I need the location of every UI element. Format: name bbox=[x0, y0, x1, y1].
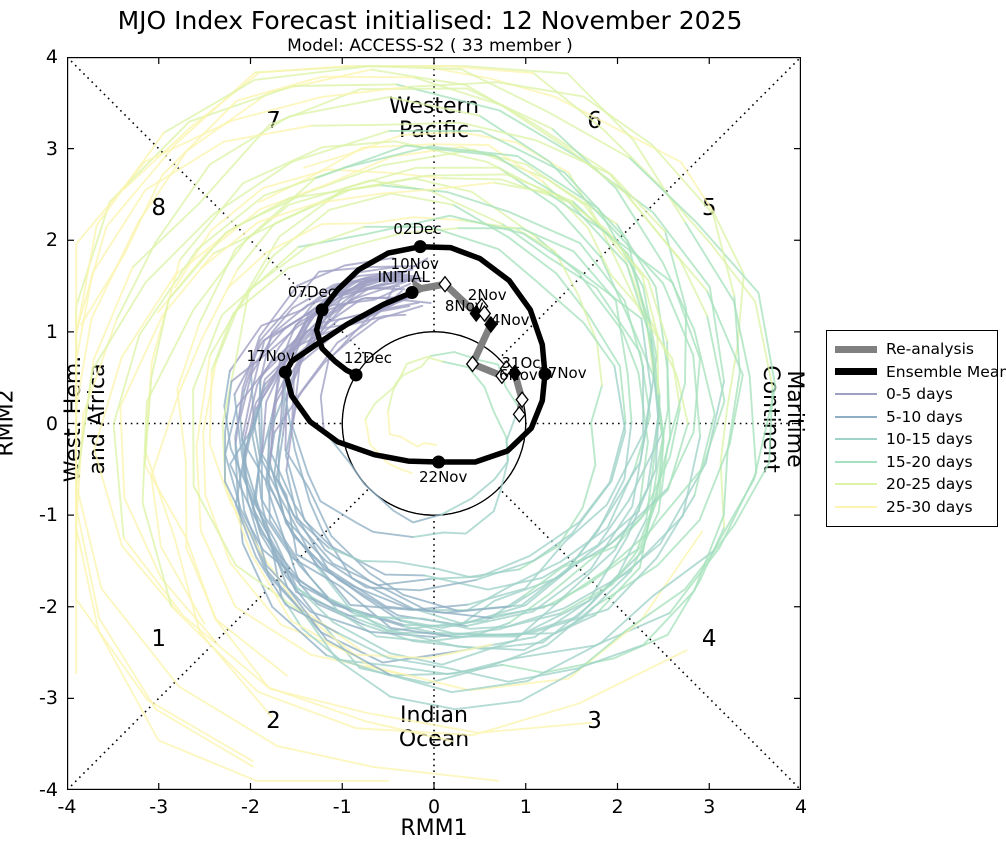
plot-canvas bbox=[67, 57, 801, 790]
y-tick-label: 4 bbox=[46, 46, 58, 68]
date-label-12dec: 12Dec bbox=[344, 349, 392, 367]
ensemble-mean-marker bbox=[316, 303, 329, 316]
y-tick-label: 0 bbox=[46, 413, 58, 435]
x-tick-label: -1 bbox=[333, 796, 352, 818]
date-label-6nov: 6Nov bbox=[499, 366, 538, 384]
x-tick-label: 0 bbox=[428, 796, 440, 818]
ensemble-member-track bbox=[114, 168, 344, 538]
legend-label: 15-20 days bbox=[886, 453, 973, 471]
y-axis-label: RMM2 bbox=[0, 389, 19, 456]
legend-swatch-icon bbox=[835, 416, 877, 418]
ensemble-member-track bbox=[76, 267, 253, 761]
legend-item-1[interactable]: Ensemble Mean bbox=[835, 361, 989, 384]
legend-item-2[interactable]: 0-5 days bbox=[835, 383, 989, 406]
ensemble-mean-marker bbox=[405, 286, 418, 299]
ensemble-mean-marker bbox=[350, 368, 363, 381]
legend-label: Ensemble Mean bbox=[886, 363, 1006, 381]
legend-item-0[interactable]: Re-analysis bbox=[835, 338, 989, 361]
legend-label: 10-15 days bbox=[886, 430, 973, 448]
legend-swatch-icon bbox=[835, 461, 877, 463]
date-label-02dec: 02Dec bbox=[393, 220, 441, 238]
legend-swatch-icon bbox=[835, 438, 877, 440]
y-tick-label: -2 bbox=[39, 596, 58, 618]
date-label-4nov: 4Nov bbox=[491, 311, 530, 329]
legend-swatch-icon bbox=[835, 483, 877, 485]
ensemble-mean-marker bbox=[414, 240, 427, 253]
x-tick-label: 3 bbox=[703, 796, 715, 818]
y-tick-label: 3 bbox=[46, 138, 58, 160]
legend-swatch-icon bbox=[835, 346, 877, 353]
ensemble-mean-marker bbox=[432, 455, 445, 468]
legend-item-6[interactable]: 20-25 days bbox=[835, 473, 989, 496]
date-label-17nov: 17Nov bbox=[246, 347, 294, 365]
legend-label: Re-analysis bbox=[886, 340, 974, 358]
page-title: MJO Index Forecast initialised: 12 Novem… bbox=[0, 6, 860, 35]
legend-item-5[interactable]: 15-20 days bbox=[835, 451, 989, 474]
x-tick-label: 4 bbox=[795, 796, 807, 818]
legend-label: 5-10 days bbox=[886, 408, 963, 426]
x-tick-label: -2 bbox=[241, 796, 260, 818]
x-tick-label: -3 bbox=[149, 796, 168, 818]
legend-label: 0-5 days bbox=[886, 385, 953, 403]
ensemble-member-track bbox=[77, 320, 253, 767]
legend-swatch-icon bbox=[835, 393, 877, 395]
ensemble-member-track bbox=[201, 183, 494, 268]
legend: Re-analysisEnsemble Mean0-5 days5-10 day… bbox=[826, 330, 998, 527]
legend-label: 20-25 days bbox=[886, 475, 973, 493]
date-label-2nov: 2Nov bbox=[468, 286, 507, 304]
y-tick-label: -4 bbox=[39, 779, 58, 801]
x-tick-label: -4 bbox=[58, 796, 77, 818]
legend-swatch-icon bbox=[835, 506, 877, 508]
plot-area: INITIAL10Nov8Nov2Nov4Nov31Oct6Nov27Nov02… bbox=[67, 57, 801, 790]
legend-item-3[interactable]: 5-10 days bbox=[835, 406, 989, 429]
legend-item-7[interactable]: 25-30 days bbox=[835, 496, 989, 519]
ensemble-mean-marker bbox=[279, 366, 292, 379]
y-tick-label: 1 bbox=[46, 321, 58, 343]
date-label-22nov: 22Nov bbox=[419, 468, 467, 486]
legend-swatch-icon bbox=[835, 368, 877, 375]
date-label-10nov: 10Nov bbox=[391, 255, 439, 273]
x-tick-label: 2 bbox=[611, 796, 623, 818]
legend-item-4[interactable]: 10-15 days bbox=[835, 428, 989, 451]
date-label-27nov: 27Nov bbox=[538, 364, 586, 382]
x-axis-label: RMM1 bbox=[400, 816, 467, 841]
y-tick-label: -1 bbox=[39, 504, 58, 526]
mjo-phase-diagram: MJO Index Forecast initialised: 12 Novem… bbox=[0, 0, 1006, 850]
y-tick-label: -3 bbox=[39, 687, 58, 709]
date-label-07dec: 07Dec bbox=[288, 283, 336, 301]
x-tick-label: 1 bbox=[520, 796, 532, 818]
y-tick-label: 2 bbox=[46, 229, 58, 251]
legend-label: 25-30 days bbox=[886, 498, 973, 516]
page-subtitle: Model: ACCESS-S2 ( 33 member ) bbox=[0, 36, 860, 56]
